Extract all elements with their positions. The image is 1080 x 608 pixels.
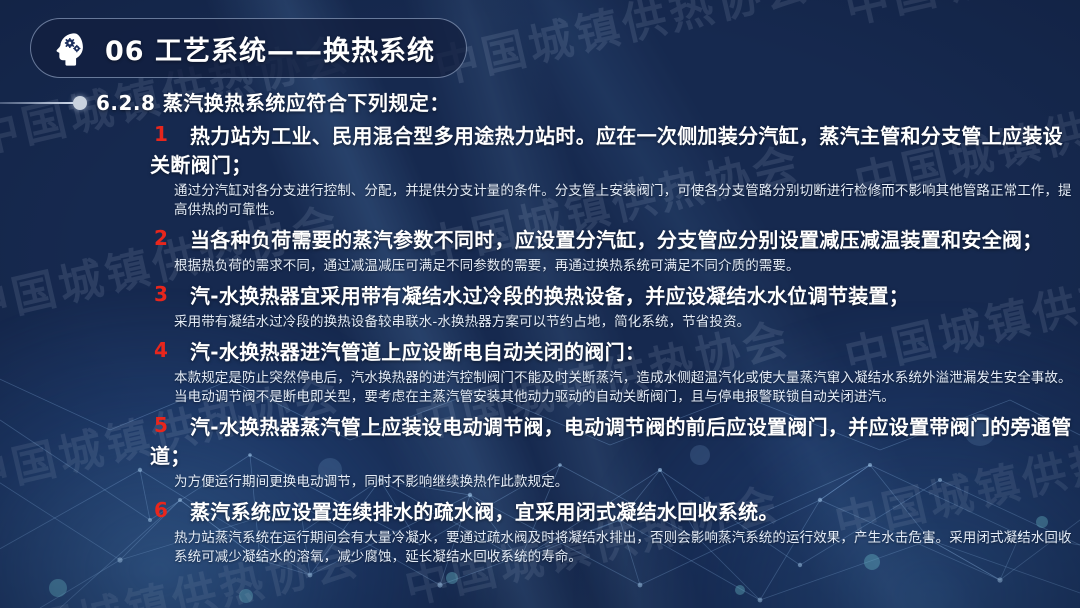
clause-title: 汽-水换热器蒸汽管上应装设电动调节阀，电动调节阀的前后应设置阀门，并应设置带阀门… [150, 413, 1080, 471]
clause-title: 当各种负荷需要的蒸汽参数不同时，应设置分汽缸，分支管应分别设置减压减温装置和安全… [150, 226, 1080, 255]
slide-content: 6.2.8 蒸汽换热系统应符合下列规定： 1 热力站为工业、民用混合型多用途热力… [96, 90, 1080, 567]
slide-title-text: 06 工艺系统——换热系统 [105, 29, 435, 68]
clause-number: 2 [154, 226, 168, 250]
heading-bullet-dot [73, 96, 87, 110]
clause-note: 为方便运行期间更换电动调节，同时不影响继续换热作此款规定。 [174, 473, 1072, 492]
clause-item: 6 蒸汽系统应设置连续排水的疏水阀，宜采用闭式凝结水回收系统。 热力站蒸汽系统在… [96, 498, 1080, 567]
heading-connector-line [0, 102, 78, 104]
clause-item: 3 汽-水换热器宜采用带有凝结水过冷段的换热设备，并应设凝结水水位调节装置； 采… [96, 282, 1080, 332]
clause-title: 汽-水换热器宜采用带有凝结水过冷段的换热设备，并应设凝结水水位调节装置； [150, 282, 1080, 311]
clause-note: 本款规定是防止突然停电后，汽水换热器的进汽控制阀门不能及时关断蒸汽，造成水侧超温… [174, 369, 1072, 407]
clause-head: 1 热力站为工业、民用混合型多用途热力站时。应在一次侧加装分汽缸，蒸汽主管和分支… [96, 122, 1080, 180]
clause-head: 4 汽-水换热器进汽管道上应设断电自动关闭的阀门： [96, 338, 1080, 367]
clause-head: 6 蒸汽系统应设置连续排水的疏水阀，宜采用闭式凝结水回收系统。 [96, 498, 1080, 527]
clause-head: 2 当各种负荷需要的蒸汽参数不同时，应设置分汽缸，分支管应分别设置减压减温装置和… [96, 226, 1080, 255]
clause-item: 5 汽-水换热器蒸汽管上应装设电动调节阀，电动调节阀的前后应设置阀门，并应设置带… [96, 413, 1080, 492]
clause-note: 采用带有凝结水过冷段的换热设备较串联水-水换热器方案可以节约占地，简化系统，节省… [174, 313, 1072, 332]
clause-number: 1 [154, 122, 168, 146]
section-heading: 6.2.8 蒸汽换热系统应符合下列规定： [96, 90, 1080, 116]
clause-item: 4 汽-水换热器进汽管道上应设断电自动关闭的阀门： 本款规定是防止突然停电后，汽… [96, 338, 1080, 407]
clause-title: 蒸汽系统应设置连续排水的疏水阀，宜采用闭式凝结水回收系统。 [150, 498, 1080, 527]
clause-note: 根据热负荷的需求不同，通过减温减压可满足不同参数的需要，再通过换热系统可满足不同… [174, 257, 1072, 276]
clause-note: 热力站蒸汽系统在运行期间会有大量冷凝水，要通过疏水阀及时将凝结水排出，否则会影响… [174, 529, 1072, 567]
slide-title-chip: 06 工艺系统——换热系统 [30, 18, 467, 78]
clause-item: 1 热力站为工业、民用混合型多用途热力站时。应在一次侧加装分汽缸，蒸汽主管和分支… [96, 122, 1080, 220]
slide-root: 中国城镇供热协会 中国城镇供热协会 中国城镇供热协会 中国城镇供热协会 中国城镇… [0, 0, 1080, 608]
clause-item: 2 当各种负荷需要的蒸汽参数不同时，应设置分汽缸，分支管应分别设置减压减温装置和… [96, 226, 1080, 276]
clause-number: 4 [154, 338, 168, 362]
clause-head: 3 汽-水换热器宜采用带有凝结水过冷段的换热设备，并应设凝结水水位调节装置； [96, 282, 1080, 311]
clause-title: 热力站为工业、民用混合型多用途热力站时。应在一次侧加装分汽缸，蒸汽主管和分支管上… [150, 122, 1080, 180]
clause-number: 3 [154, 282, 168, 306]
clause-note: 通过分汽缸对各分支进行控制、分配，并提供分支计量的条件。分支管上安装阀门，可使各… [174, 182, 1072, 220]
clause-number: 6 [154, 498, 168, 522]
clause-head: 5 汽-水换热器蒸汽管上应装设电动调节阀，电动调节阀的前后应设置阀门，并应设置带… [96, 413, 1080, 471]
clause-title: 汽-水换热器进汽管道上应设断电自动关闭的阀门： [150, 338, 1080, 367]
head-gears-icon [49, 28, 89, 68]
clause-number: 5 [154, 413, 168, 437]
